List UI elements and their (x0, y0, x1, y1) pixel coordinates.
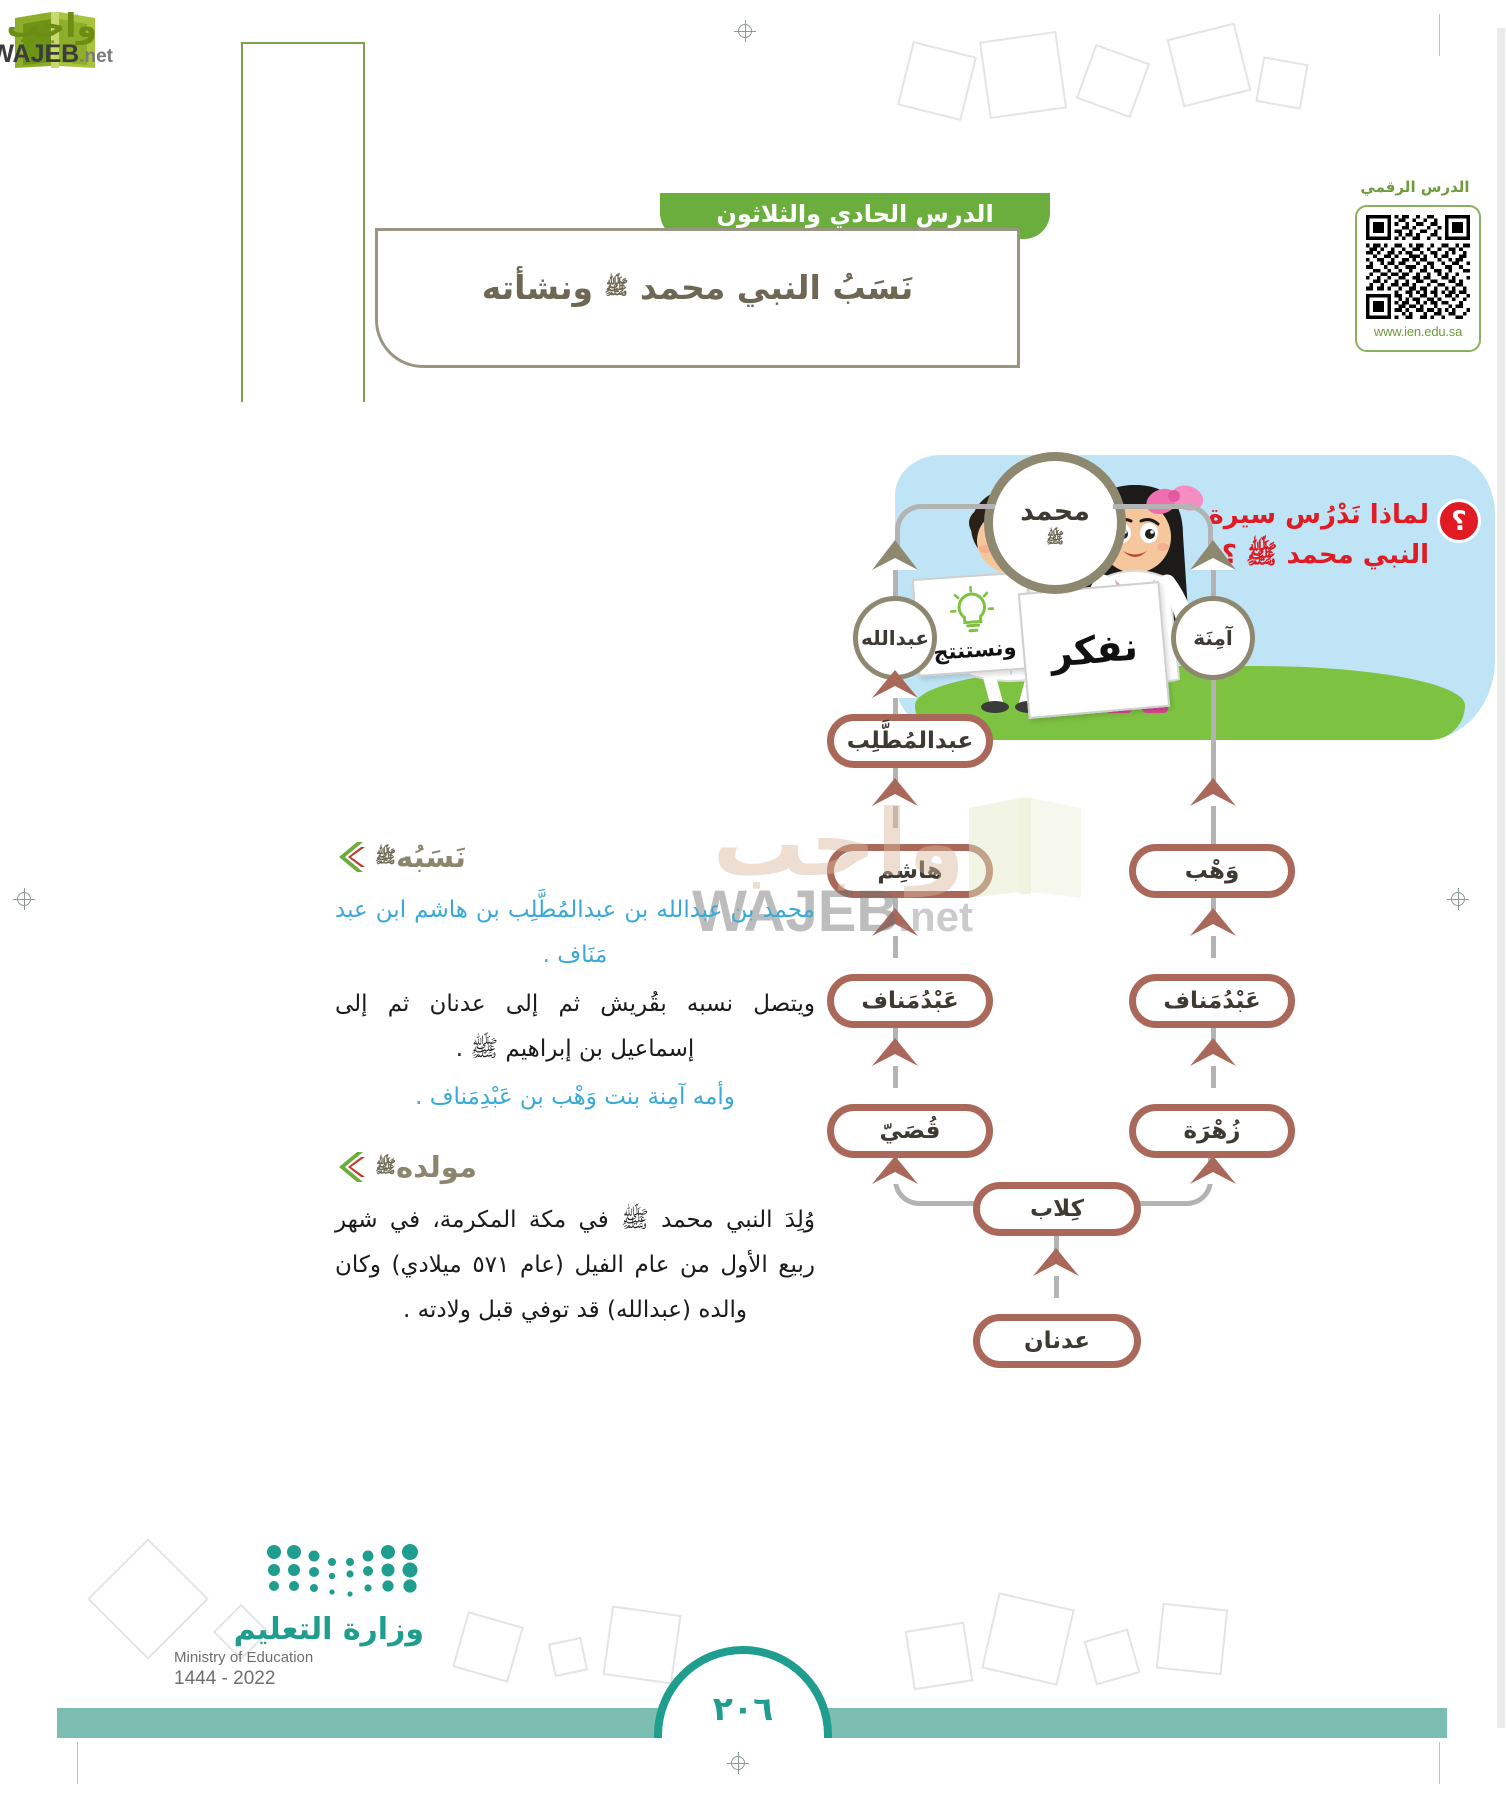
registration-mark (14, 888, 36, 910)
tree-arrow-notch (873, 794, 919, 806)
decorative-square (1168, 23, 1253, 108)
digital-lesson-qr-card[interactable]: www.ien.edu.sa (1356, 205, 1482, 352)
digital-lesson-label: الدرس الرقمي (1356, 178, 1476, 196)
tree-node-root-name: محمد (1021, 496, 1091, 527)
wajeb-logo-english: WAJEB.net (0, 40, 114, 69)
ministry-name-arabic: وزارة التعليم (175, 1612, 425, 1647)
tree-node-maternal-2: عَبْدُمَناف (1130, 974, 1296, 1028)
tree-arrow-notch (1191, 1172, 1237, 1184)
crop-mark-line (1440, 1742, 1441, 1784)
tree-node-shared-2-name: عدنان (1025, 1328, 1091, 1354)
honorific-glyph: ﷺ (376, 1158, 397, 1178)
tree-arrow-notch (1191, 558, 1237, 570)
page-title-suffix: ونشأته (483, 268, 594, 307)
tree-node-father-name: عبدالله (862, 626, 930, 650)
page-edge-strip (1498, 28, 1506, 1728)
tree-node-paternal-2-name: هاشِم (878, 858, 943, 884)
qr-code-icon (1367, 215, 1471, 319)
green-horizontal-rule (242, 42, 366, 44)
decorative-square (549, 1637, 589, 1677)
page-title-main: نَسَبُ النبي محمد (641, 268, 914, 307)
section-header-mawlid: مولدهﷺ (336, 1150, 816, 1184)
tree-node-paternal-1-name: عبدالمُطَّلِب (848, 728, 974, 754)
tree-arrow-notch (1191, 1054, 1237, 1066)
tree-node-maternal-2-name: عَبْدُمَناف (1164, 988, 1261, 1014)
registration-mark (728, 1752, 750, 1774)
page-title: نَسَبُ النبي محمد ﷺ ونشأته (391, 268, 1006, 307)
tree-arrow-notch (873, 1172, 919, 1184)
registration-mark (735, 20, 757, 42)
section-title-mawlid: مولدهﷺ (376, 1150, 478, 1184)
decorative-square (1077, 44, 1151, 118)
tree-node-maternal-1-name: وَهْب (1186, 858, 1241, 884)
decorative-square (898, 41, 978, 121)
decorative-square (1157, 1603, 1230, 1676)
question-badge-icon: ؟ (1438, 499, 1482, 543)
lesson-content: نَسَبُهﷺ محمد بن عبدالله بن عبدالمُطَّلِ… (336, 840, 816, 1337)
decorative-square (982, 1592, 1076, 1686)
tree-node-root: محمد ﷺ (985, 452, 1127, 594)
decorative-square (453, 1611, 525, 1683)
tree-node-shared-1-name: كِلاب (1031, 1196, 1085, 1222)
paragraph-nasab-1: محمد بن عبدالله بن عبدالمُطَّلِب بن هاشم… (336, 888, 816, 978)
family-tree-diagram: محمد ﷺ عبدالله آمِنَة عبدالمُطَّلِب هاشِ (846, 452, 1266, 1472)
tree-node-paternal-2: هاشِم (828, 844, 994, 898)
decorative-square (603, 1605, 682, 1684)
textbook-page: واجب WAJEB.net الدرس الرقمي (0, 0, 1506, 1800)
section-title-nasab: نَسَبُهﷺ (376, 840, 467, 874)
honorific-glyph: ﷺ (376, 848, 397, 868)
paragraph-mawlid-1: وُلِدَ النبي محمد ﷺ في مكة المكرمة، في ش… (336, 1198, 816, 1333)
registration-mark (1448, 888, 1470, 910)
decorative-square (980, 31, 1068, 119)
tree-node-maternal-3-name: زُهْرَة (1184, 1118, 1241, 1144)
green-vertical-rule (242, 42, 244, 402)
tree-arrow-notch (1191, 924, 1237, 936)
paragraph-nasab-3: وأمه آمِنة بنت وَهْب بن عَبْدِمَناف . (336, 1075, 816, 1120)
tree-node-paternal-4-name: قُصَيّ (881, 1118, 942, 1144)
decorative-square (1085, 1629, 1142, 1686)
crop-mark-line (1440, 14, 1441, 56)
decorative-square (906, 1622, 975, 1691)
ministry-logo: وزارة التعليم Ministry of Education 1444… (175, 1544, 425, 1690)
tree-node-shared-2: عدنان (974, 1314, 1142, 1368)
tree-node-mother: آمِنَة (1172, 596, 1256, 680)
double-chevron-icon (336, 840, 366, 874)
tree-arrow-notch (873, 924, 919, 936)
tree-node-paternal-3: عَبْدُمَناف (828, 974, 994, 1028)
tree-arrow-notch (873, 686, 919, 698)
tree-arrow-notch (1191, 794, 1237, 806)
section-header-nasab: نَسَبُهﷺ (336, 840, 816, 874)
page-number: ٢٠٦ (655, 1689, 833, 1728)
tree-connector (1212, 680, 1217, 846)
honorific-glyph: ﷺ (1047, 529, 1065, 551)
tree-arrow-notch (873, 1054, 919, 1066)
ministry-year: 1444 - 2022 (175, 1668, 425, 1690)
decorative-square (1256, 56, 1309, 109)
tree-node-maternal-3: زُهْرَة (1130, 1104, 1296, 1158)
tree-node-maternal-1: وَهْب (1130, 844, 1296, 898)
tree-node-father: عبدالله (854, 596, 938, 680)
digital-lesson-url[interactable]: www.ien.edu.sa (1375, 324, 1463, 339)
tree-node-shared-1: كِلاب (974, 1182, 1142, 1236)
tree-node-paternal-3-name: عَبْدُمَناف (862, 988, 959, 1014)
ministry-name-english: Ministry of Education (175, 1649, 425, 1666)
tree-node-mother-name: آمِنَة (1194, 626, 1234, 650)
crop-mark-line (78, 1742, 79, 1784)
tree-arrow-notch (873, 558, 919, 570)
double-chevron-icon (336, 1150, 366, 1184)
wajeb-logo: واجب WAJEB.net (6, 4, 206, 78)
tree-node-paternal-4: قُصَيّ (828, 1104, 994, 1158)
tree-arrow-notch (1034, 1264, 1080, 1276)
green-vertical-rule (364, 42, 366, 402)
salutation-glyph: ﷺ (606, 276, 630, 299)
tree-node-paternal-1: عبدالمُطَّلِب (828, 714, 994, 768)
ministry-dots-icon (265, 1544, 425, 1602)
paragraph-nasab-2: ويتصل نسبه بقُريش ثم إلى عدنان ثم إلى إس… (336, 982, 816, 1072)
